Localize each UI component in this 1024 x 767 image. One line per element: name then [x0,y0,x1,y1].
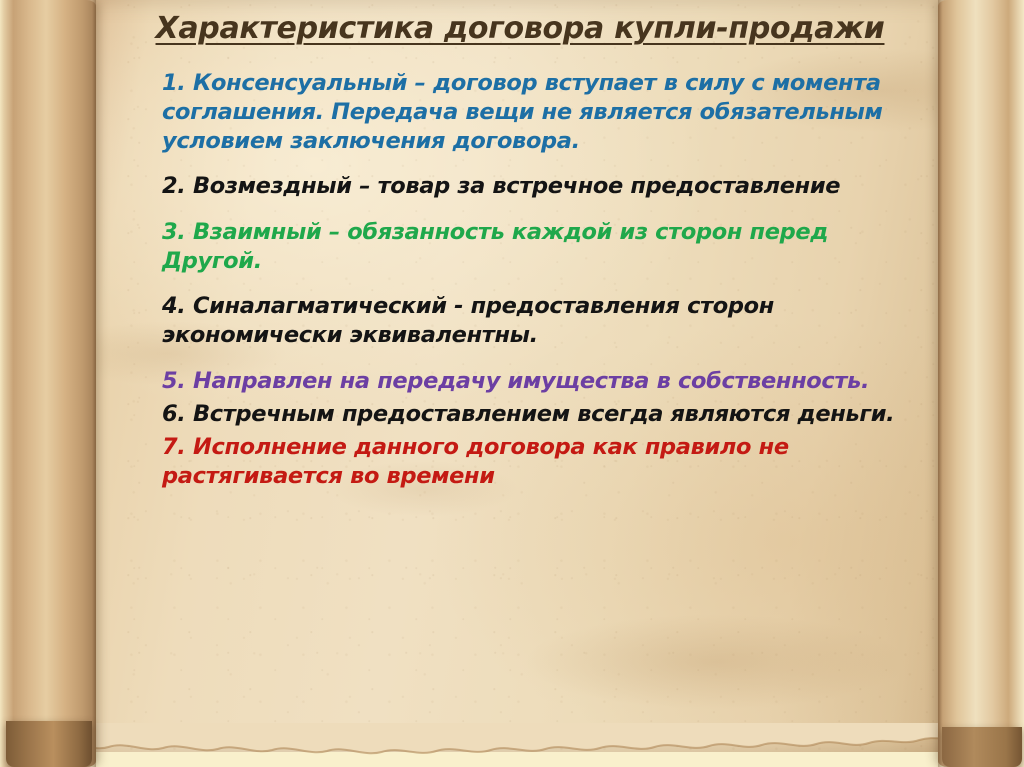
bullet-list: 1. Консенсуальный – договор вступает в с… [100,69,940,492]
slide-content: Характеристика договора купли-продажи 1.… [100,0,940,740]
list-item: 1. Консенсуальный – договор вступает в с… [162,69,934,157]
list-item: 7. Исполнение данного договора как прави… [162,433,934,492]
page-title: Характеристика договора купли-продажи [100,0,940,47]
list-item: 4. Синалагматический - предоставления ст… [162,292,934,351]
list-item: 5. Направлен на передачу имущества в соб… [162,367,934,396]
list-item: 2. Возмездный – товар за встречное предо… [162,172,934,201]
list-item: 3. Взаимный – обязанность каждой из стор… [162,218,934,277]
list-item: 6. Встречным предоставлением всегда явля… [162,400,934,429]
